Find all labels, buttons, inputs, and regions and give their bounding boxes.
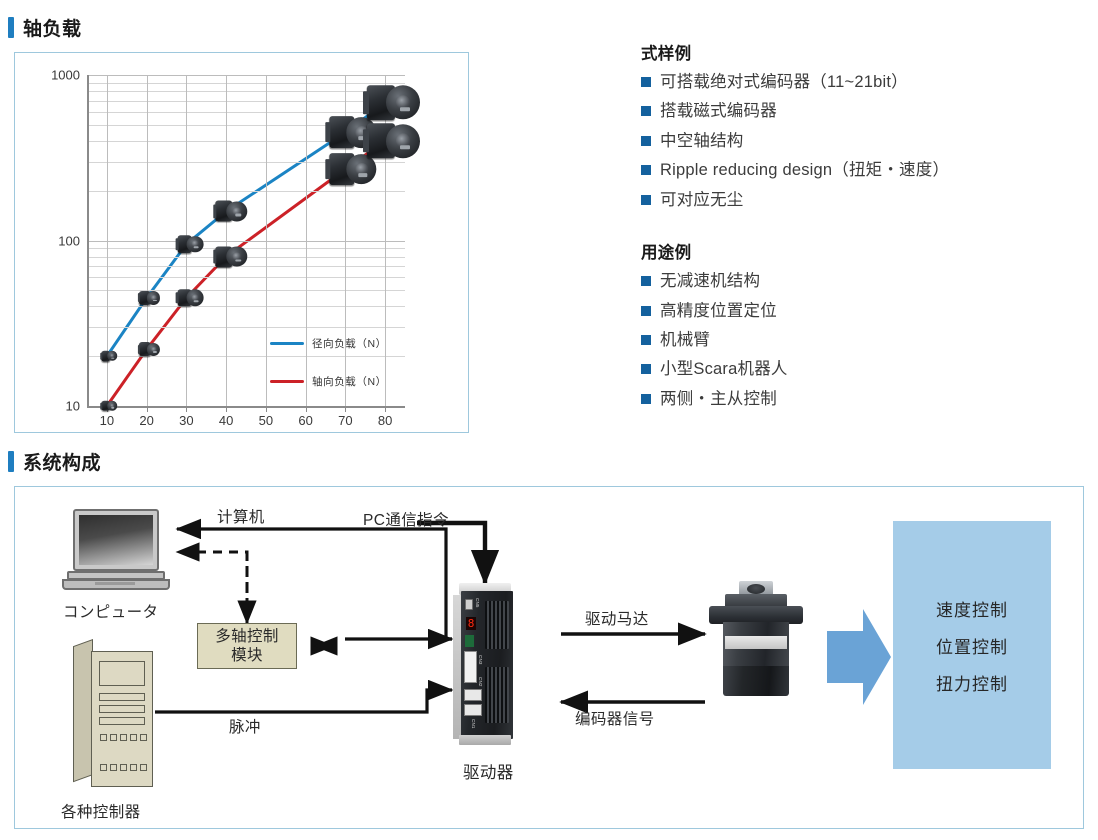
chart-gridline-minor: [87, 125, 405, 126]
multi-axis-module-box: 多轴控制 模块: [197, 623, 297, 669]
control-mode-position: 位置控制: [936, 633, 1008, 658]
system-diagram-panel: コンピュータ: [14, 486, 1084, 829]
legend-label-radial: 径向负载（N）: [312, 336, 387, 351]
tower-button: [100, 764, 107, 771]
bullet-square-icon: [641, 165, 651, 175]
driver-port-label-cn3: CN3: [478, 655, 483, 665]
chart-x-tick-label: 10: [100, 413, 114, 428]
spec-item: Ripple reducing design（扭矩・速度）: [641, 159, 1071, 182]
laptop-lid: [73, 509, 159, 571]
tower-button: [130, 734, 137, 741]
chart-gridline-minor: [87, 327, 405, 328]
shaft-load-chart-panel: 1010010001020304050607080 径向负载（N） 轴向负载（N…: [14, 52, 469, 433]
use-item-label: 高精度位置定位: [660, 300, 777, 323]
motor-nameplate: [725, 636, 787, 649]
tower-button: [140, 764, 147, 771]
chart-gridline-minor: [87, 91, 405, 92]
spec-item-label: 可对应无尘: [660, 189, 744, 212]
tower-slot: [99, 693, 145, 701]
chart-gridline-minor: [87, 162, 405, 163]
spec-item-label: 搭载磁式编码器: [660, 100, 777, 123]
control-mode-speed: 速度控制: [936, 596, 1008, 621]
bullet-square-icon: [641, 335, 651, 345]
chart-gridline-minor: [87, 83, 405, 84]
link-label-encoder-signal: 编码器信号: [575, 707, 655, 729]
driver-port-label-cn5: CN5: [475, 598, 480, 608]
chart-gridline-vertical: [186, 75, 187, 406]
tower-slot: [99, 717, 145, 725]
legend-label-axial: 轴向负载（N）: [312, 374, 387, 389]
heading-accent-bar: [8, 17, 14, 38]
section-heading-shaft-load: 轴负载: [8, 14, 82, 41]
bullet-square-icon: [641, 394, 651, 404]
chart-area: 1010010001020304050607080 径向负载（N） 轴向负载（N…: [15, 53, 468, 432]
bullet-square-icon: [641, 106, 651, 116]
use-item: 两侧・主从控制: [641, 388, 1071, 411]
chart-x-tick-label: 30: [179, 413, 193, 428]
text-column: 式样例 可搭载绝对式编码器（11~21bit）搭载磁式编码器中空轴结构Rippl…: [641, 40, 1071, 417]
system-diagram: コンピュータ: [15, 487, 1083, 828]
driver-port-lower: [464, 704, 482, 716]
driver-bottom-plate: [459, 735, 511, 745]
chart-gridline-vertical: [226, 75, 227, 406]
chart-gridline-minor: [87, 248, 405, 249]
use-item: 机械臂: [641, 329, 1071, 352]
spec-item: 可搭载绝对式编码器（11~21bit）: [641, 71, 1071, 94]
motor-illustration: [705, 581, 807, 701]
legend-swatch-axial: [270, 380, 304, 383]
tower-slot: [99, 705, 145, 713]
driver-caption: 驱动器: [463, 759, 514, 783]
link-label-pulse: 脉冲: [229, 715, 261, 737]
computer-illustration: [67, 509, 175, 591]
specs-group: 式样例 可搭载绝对式编码器（11~21bit）搭载磁式编码器中空轴结构Rippl…: [641, 40, 1071, 212]
motor-encoder-housing: [723, 666, 789, 696]
tower-window: [99, 661, 145, 686]
legend-item-radial: 径向负载（N）: [270, 336, 387, 351]
servo-driver-illustration: CN5 8 CN3 CN2 CN1: [453, 583, 525, 751]
chart-gridline-minor: [87, 257, 405, 258]
driver-body: CN5 8 CN3 CN2 CN1: [461, 591, 513, 739]
chart-x-tick-label: 50: [259, 413, 273, 428]
uses-title: 用途例: [641, 239, 1071, 263]
use-item: 无减速机结构: [641, 270, 1071, 293]
driver-port-label-cn2: CN2: [478, 677, 483, 687]
specs-title: 式样例: [641, 40, 1071, 64]
chart-gridline-vertical: [266, 75, 267, 406]
section-title-system: 系统构成: [23, 448, 101, 475]
use-item: 高精度位置定位: [641, 300, 1071, 323]
driver-port-upper: [464, 689, 482, 701]
tower-button: [130, 764, 137, 771]
use-item-label: 机械臂: [660, 329, 710, 352]
motor-shaft-bore: [747, 584, 765, 594]
chart-x-tick-label: 80: [378, 413, 392, 428]
chart-x-tick-label: 40: [219, 413, 233, 428]
chart-gridline-minor: [87, 101, 405, 102]
spec-item: 中空轴结构: [641, 130, 1071, 153]
section-heading-system: 系统构成: [8, 448, 101, 475]
bullet-square-icon: [641, 364, 651, 374]
use-item-label: 无减速机结构: [660, 270, 760, 293]
tower-button: [110, 734, 117, 741]
spec-item: 搭载磁式编码器: [641, 100, 1071, 123]
chart-gridline-minor: [87, 191, 405, 192]
driver-vent: [485, 601, 509, 649]
module-label-line2: 模块: [215, 646, 279, 665]
driver-port-label-cn1: CN1: [471, 719, 476, 729]
driver-usb-port: [465, 599, 473, 610]
tower-side-panel: [73, 639, 93, 782]
legend-item-axial: 轴向负载（N）: [270, 374, 387, 389]
control-mode-torque: 扭力控制: [936, 670, 1008, 695]
chart-gridline-minor: [87, 290, 405, 291]
use-item: 小型Scara机器人: [641, 358, 1071, 381]
chart-x-tick-label: 60: [298, 413, 312, 428]
chart-y-tick-label: 1000: [51, 68, 80, 83]
chart-legend: 径向负载（N） 轴向负载（N）: [270, 336, 387, 412]
heading-accent-bar-2: [8, 451, 14, 472]
link-label-pc-command: PC通信指令: [363, 508, 449, 530]
computer-caption: コンピュータ: [63, 600, 158, 622]
uses-group: 用途例 无减速机结构高精度位置定位机械臂小型Scara机器人两侧・主从控制: [641, 239, 1071, 411]
spec-item-label: 可搭载绝对式编码器（11~21bit）: [660, 71, 908, 94]
legend-swatch-radial: [270, 342, 304, 345]
controller-illustration: [73, 639, 159, 795]
module-label: 多轴控制 模块: [215, 627, 279, 666]
tower-button: [120, 764, 127, 771]
laptop-screen: [79, 515, 153, 565]
product-page: 轴负载 1010010001020304050607080 径向负载（N） 轴向…: [0, 0, 1098, 840]
specs-list: 可搭载绝对式编码器（11~21bit）搭载磁式编码器中空轴结构Ripple re…: [641, 71, 1071, 212]
tower-button: [120, 734, 127, 741]
driver-vent: [485, 667, 509, 723]
driver-status-led: [465, 635, 474, 647]
chart-gridline-major: [87, 75, 405, 76]
link-label-drive-motor: 驱动马达: [585, 607, 649, 629]
chart-gridline-minor: [87, 266, 405, 267]
chart-gridline-major: [87, 241, 405, 242]
bullet-square-icon: [641, 136, 651, 146]
bullet-square-icon: [641, 306, 651, 316]
use-item-label: 小型Scara机器人: [660, 358, 788, 381]
module-label-line1: 多轴控制: [215, 627, 279, 646]
chart-gridline-minor: [87, 112, 405, 113]
bullet-square-icon: [641, 77, 651, 87]
tower-button: [110, 764, 117, 771]
chart-y-tick-label: 10: [66, 399, 80, 414]
driver-seven-segment-display: 8: [466, 617, 476, 630]
chart-y-tick-label: 100: [58, 233, 80, 248]
uses-list: 无减速机结构高精度位置定位机械臂小型Scara机器人两侧・主从控制: [641, 270, 1071, 411]
chart-x-tick-label: 20: [139, 413, 153, 428]
spec-item: 可对应无尘: [641, 189, 1071, 212]
controller-caption: 各种控制器: [61, 800, 141, 822]
spec-item-label: Ripple reducing design（扭矩・速度）: [660, 159, 949, 182]
chart-gridline-vertical: [107, 75, 108, 406]
tower-button: [100, 734, 107, 741]
driver-connector-cn3: [464, 651, 477, 683]
bullet-square-icon: [641, 195, 651, 205]
control-modes-box: 速度控制 位置控制 扭力控制: [893, 521, 1051, 769]
bullet-square-icon: [641, 276, 651, 286]
laptop-trackpad: [95, 582, 135, 585]
chart-gridline-minor: [87, 306, 405, 307]
chart-gridline-vertical: [147, 75, 148, 406]
chart-gridline-minor: [87, 277, 405, 278]
link-label-computer: 计算机: [217, 505, 265, 527]
chart-y-axis: [87, 75, 89, 406]
result-arrow: [827, 609, 891, 705]
use-item-label: 两侧・主从控制: [660, 388, 777, 411]
spec-item-label: 中空轴结构: [660, 130, 744, 153]
section-title-shaft-load: 轴负载: [23, 14, 82, 41]
chart-x-tick-label: 70: [338, 413, 352, 428]
chart-gridline-minor: [87, 141, 405, 142]
group-spacer: [641, 218, 1071, 239]
tower-button: [140, 734, 147, 741]
tower-front-panel: [91, 651, 153, 787]
